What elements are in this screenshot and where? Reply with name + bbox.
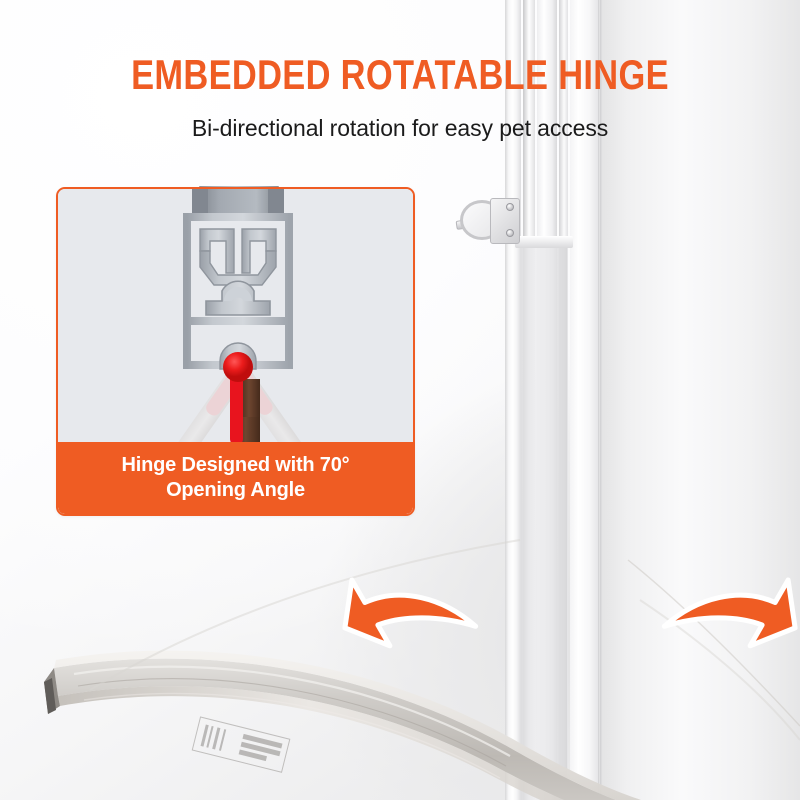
hinge-caption-line-1: Hinge Designed with 70° (122, 453, 350, 478)
rotation-arrow-left (330, 548, 480, 678)
hinge-caption-line-2: Opening Angle (166, 478, 305, 503)
hinge-detail-card: Hinge Designed with 70° Opening Angle (56, 187, 415, 516)
image-canvas: EMBEDDED ROTATABLE HINGE Bi-directional … (0, 0, 800, 800)
hinge-caption: Hinge Designed with 70° Opening Angle (58, 442, 413, 514)
page-title: EMBEDDED ROTATABLE HINGE (72, 52, 728, 98)
page-subtitle: Bi-directional rotation for easy pet acc… (0, 113, 800, 143)
rotation-arrow-right (660, 548, 800, 678)
